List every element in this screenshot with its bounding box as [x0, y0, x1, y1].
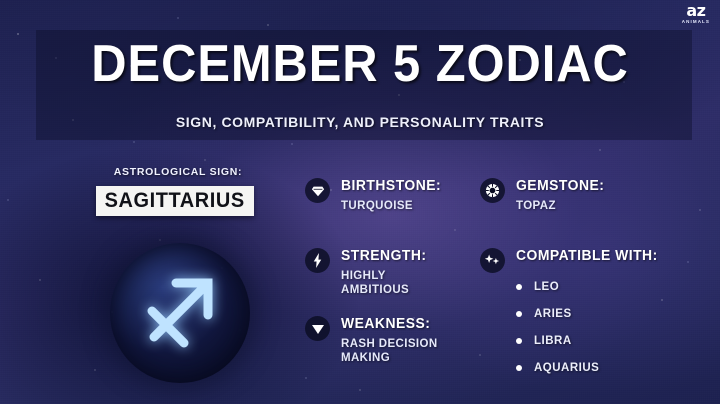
diamond-icon: [305, 178, 330, 203]
fact-birthstone-value: TURQUOISE: [341, 199, 445, 213]
bullet-dot-icon: [516, 338, 522, 344]
fact-weakness-body: WEAKNESS: RASH DECISION MAKING: [341, 315, 438, 365]
fact-weakness-heading: WEAKNESS:: [341, 317, 434, 332]
fact-birthstone-heading: BIRTHSTONE:: [341, 179, 441, 194]
fact-strength-body: STRENGTH: HIGHLY AMBITIOUS: [341, 247, 430, 297]
sagittarius-medallion: [110, 243, 250, 383]
az-animals-logo[interactable]: az ANIMALS: [682, 3, 710, 25]
fact-weakness: WEAKNESS: RASH DECISION MAKING: [305, 315, 438, 365]
compatible-sign-item: LIBRA: [516, 327, 664, 354]
compatible-sign-item: AQUARIUS: [516, 354, 664, 381]
fact-strength-heading: STRENGTH:: [341, 249, 427, 264]
compatible-sign-label: ARIES: [534, 308, 572, 320]
fact-compatible: COMPATIBLE WITH: LEOARIESLIBRAAQUARIUS: [480, 247, 664, 381]
bullet-dot-icon: [516, 311, 522, 317]
astrological-sign-box: SAGITTARIUS: [96, 186, 254, 216]
logo-wordmark: az: [682, 3, 710, 19]
down-triangle-icon: [305, 316, 330, 341]
fact-weakness-value: RASH DECISION MAKING: [341, 337, 438, 365]
compatible-sign-label: LEO: [534, 281, 559, 293]
compatible-sign-item: LEO: [516, 273, 664, 300]
bullet-dot-icon: [516, 284, 522, 290]
fact-strength: STRENGTH: HIGHLY AMBITIOUS: [305, 247, 430, 297]
compatible-sign-item: ARIES: [516, 300, 664, 327]
fact-compatible-body: COMPATIBLE WITH: LEOARIESLIBRAAQUARIUS: [516, 247, 664, 381]
fact-birthstone-body: BIRTHSTONE: TURQUOISE: [341, 177, 445, 213]
sagittarius-glyph-icon: [132, 263, 228, 364]
page-title: DECEMBER 5 ZODIAC: [22, 38, 699, 90]
fact-gemstone-heading: GEMSTONE:: [516, 179, 604, 194]
fact-gemstone-body: GEMSTONE: TOPAZ: [516, 177, 608, 213]
compatible-sign-label: LIBRA: [534, 335, 572, 347]
fact-birthstone: BIRTHSTONE: TURQUOISE: [305, 177, 445, 213]
compatible-signs-list: LEOARIESLIBRAAQUARIUS: [516, 273, 664, 381]
fact-strength-value: HIGHLY AMBITIOUS: [341, 269, 430, 297]
page-subtitle: SIGN, COMPATIBILITY, AND PERSONALITY TRA…: [0, 114, 720, 130]
fact-compatible-heading: COMPATIBLE WITH:: [516, 249, 658, 264]
round-gem-icon: [480, 178, 505, 203]
bullet-dot-icon: [516, 365, 522, 371]
fact-gemstone: GEMSTONE: TOPAZ: [480, 177, 608, 213]
compatible-sign-label: AQUARIUS: [534, 362, 599, 374]
zodiac-infographic: az ANIMALS DECEMBER 5 ZODIAC SIGN, COMPA…: [0, 0, 720, 404]
lightning-bolt-icon: [305, 248, 330, 273]
astrological-sign-name: SAGITTARIUS: [105, 189, 245, 213]
twin-stars-icon: [480, 248, 505, 273]
astrological-sign-label: ASTROLOGICAL SIGN:: [98, 166, 258, 178]
fact-gemstone-value: TOPAZ: [516, 199, 608, 213]
logo-subtext: ANIMALS: [682, 20, 710, 25]
